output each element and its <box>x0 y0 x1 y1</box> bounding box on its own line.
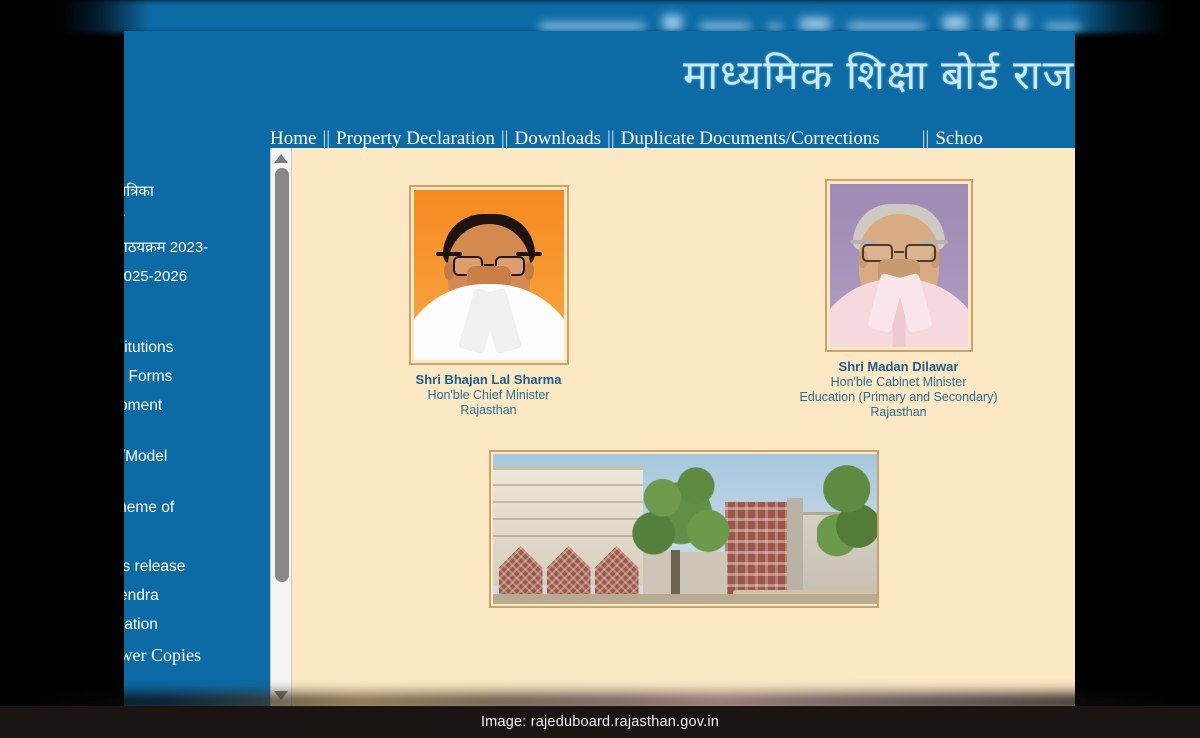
photo-frame <box>409 185 569 365</box>
sidebar-item-3[interactable]: 0 एवं पाठयक्रम 2023- <box>124 234 270 262</box>
sidebar-spacer <box>124 291 270 333</box>
sidebar-item-12[interactable]: eva kendra <box>124 581 270 610</box>
sidebar-menu[interactable]: रीक्षण पत्रिका ोनियम 0 एवं पाठयक्रम 2023… <box>124 178 270 673</box>
sidebar-item-13[interactable]: Verification <box>124 610 270 639</box>
leaders-row: Shri Bhajan Lal Sharma Hon'ble Chief Min… <box>292 185 1075 421</box>
leader-card-education-minister: Shri Madan Dilawar Hon'ble Cabinet Minis… <box>779 179 1019 421</box>
nav-item-school[interactable]: Schoo <box>935 128 983 150</box>
image-caption-bar: Image: rajeduboard.rajasthan.gov.in <box>0 706 1200 738</box>
leader-name: Shri Madan Dilawar <box>779 359 1019 375</box>
leader-region: Rajasthan <box>779 405 1019 420</box>
nav-separator: || <box>601 128 621 150</box>
screenshot-stage: माध्यमिक शिक्षा बोर्ड राज Home || Proper… <box>0 0 1200 738</box>
nav-item-home[interactable]: Home <box>270 128 316 150</box>
sidebar-item-10[interactable]: arship <box>124 522 270 551</box>
scrollbar-thumb[interactable] <box>275 168 289 582</box>
nav-item-duplicate-documents-corrections[interactable]: Duplicate Documents/Corrections <box>621 128 880 150</box>
nav-separator: || <box>316 128 336 150</box>
sidebar-item-11[interactable]: / Press release <box>124 552 270 581</box>
main-content: Shri Bhajan Lal Sharma Hon'ble Chief Min… <box>292 148 1075 706</box>
left-sidebar[interactable]: रीक्षण पत्रिका ोनियम 0 एवं पाठयक्रम 2023… <box>124 148 270 706</box>
page-body: रीक्षण पत्रिका ोनियम 0 एवं पाठयक्रम 2023… <box>124 148 1075 706</box>
leader-title: Hon'ble Chief Minister <box>369 388 609 403</box>
leader-region: Rajasthan <box>369 403 609 418</box>
building-photo-frame <box>489 450 879 608</box>
sidebar-item-6[interactable]: arious Forms <box>124 362 270 391</box>
vertical-scrollbar[interactable] <box>270 148 292 706</box>
top-bleed-text-blur <box>540 4 1080 30</box>
portrait-photo-bhajan-lal-sharma <box>414 190 564 360</box>
leader-portfolio: Education (Primary and Secondary) <box>779 390 1019 405</box>
nav-item-property-declaration[interactable]: Property Declaration <box>336 128 495 150</box>
sidebar-item-8[interactable]: apers/Model <box>124 442 270 471</box>
scroll-up-arrow-icon[interactable] <box>274 154 288 163</box>
nav-separator: || <box>880 128 936 150</box>
sidebar-item-5[interactable]: of Institutions <box>124 333 270 362</box>
nav-separator: || <box>495 128 515 150</box>
sidebar-item-4[interactable]: 5 एवं 2025-2026 <box>124 263 270 291</box>
site-title-hindi: माध्यमिक शिक्षा बोर्ड राज <box>124 31 1075 117</box>
nav-item-downloads[interactable]: Downloads <box>514 128 601 150</box>
sidebar-item-14[interactable]: : Answer Copies <box>124 639 270 673</box>
sidebar-item-1[interactable]: रीक्षण पत्रिका <box>124 178 270 206</box>
sidebar-spacer <box>124 471 270 493</box>
building-photo <box>493 454 877 604</box>
leader-title: Hon'ble Cabinet Minister <box>779 375 1019 390</box>
photo-frame <box>825 179 973 352</box>
leader-card-chief-minister: Shri Bhajan Lal Sharma Hon'ble Chief Min… <box>369 185 609 421</box>
sidebar-item-7[interactable]: evelopment <box>124 391 270 420</box>
portrait-photo-madan-dilawar <box>830 184 968 347</box>
leader-name: Shri Bhajan Lal Sharma <box>369 372 609 388</box>
sidebar-item-9[interactable]: or Scheme of <box>124 493 270 522</box>
website-page: माध्यमिक शिक्षा बोर्ड राज Home || Proper… <box>124 31 1075 706</box>
sidebar-spacer <box>124 420 270 442</box>
sidebar-item-2[interactable]: ोनियम <box>124 206 270 234</box>
image-caption-text: Image: rajeduboard.rajasthan.gov.in <box>481 714 719 730</box>
